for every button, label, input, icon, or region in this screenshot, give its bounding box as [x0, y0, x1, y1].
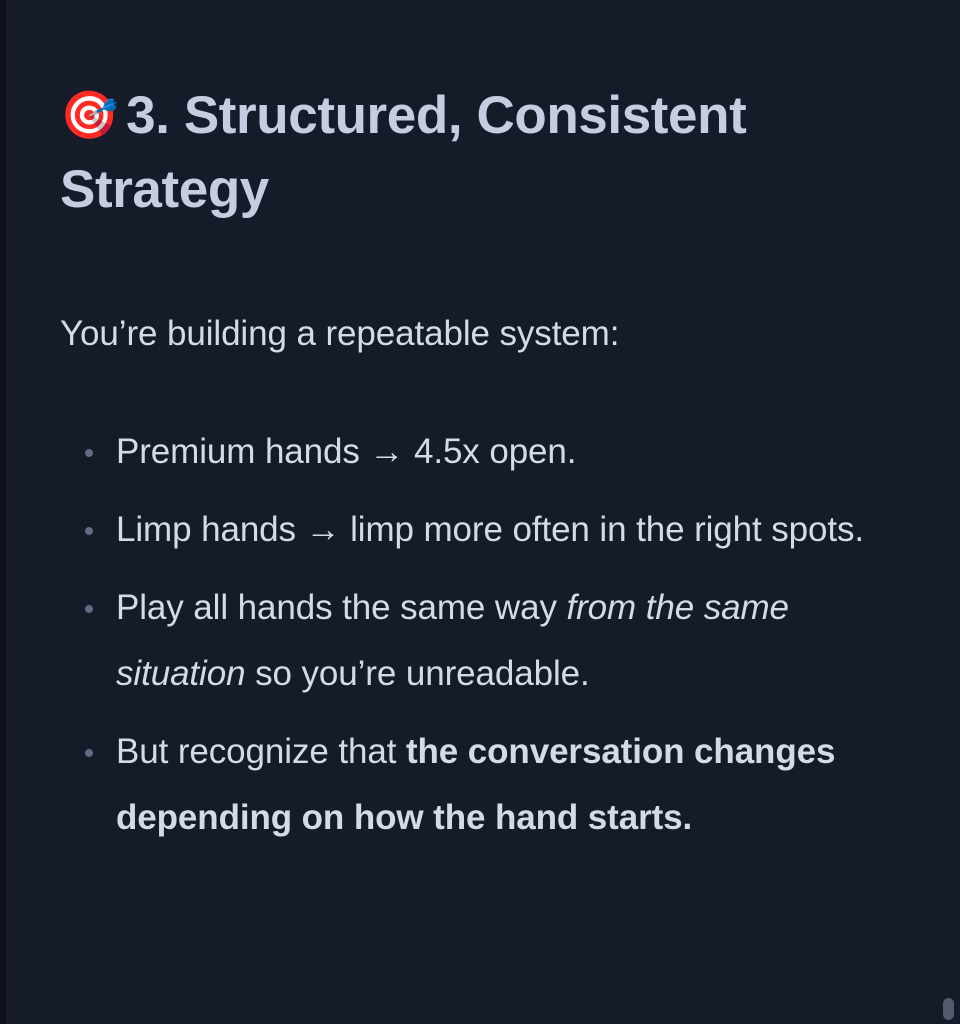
page-title-text: 3. Structured, Consistent Strategy [60, 86, 746, 219]
list-item: Limp hands → limp more often in the righ… [60, 497, 876, 563]
text-segment-normal: Limp hands → limp more often in the righ… [116, 510, 864, 549]
article-content: 🎯3. Structured, Consistent Strategy You’… [0, 0, 960, 1024]
list-item: Play all hands the same way from the sam… [60, 575, 876, 707]
direct-hit-target-emoji: 🎯 [60, 78, 118, 152]
text-segment-normal: so you’re unreadable. [245, 654, 589, 693]
list-item: But recognize that the conversation chan… [60, 719, 876, 851]
text-segment-normal: Premium hands → 4.5x open. [116, 432, 576, 471]
list-item-text: Limp hands → limp more often in the righ… [116, 510, 864, 549]
strategy-bullet-list: Premium hands → 4.5x open. Limp hands → … [60, 357, 900, 851]
bullet-dot-icon [85, 449, 93, 457]
list-item: Premium hands → 4.5x open. [60, 419, 876, 485]
bullet-dot-icon [85, 527, 93, 535]
list-item-text: Play all hands the same way from the sam… [116, 588, 789, 693]
intro-paragraph: You’re building a repeatable system: [60, 227, 900, 357]
list-item-text: But recognize that the conversation chan… [116, 732, 835, 837]
page-title: 🎯3. Structured, Consistent Strategy [60, 78, 860, 227]
bullet-dot-icon [85, 605, 93, 613]
text-segment-normal: Play all hands the same way [116, 588, 567, 627]
list-item-text: Premium hands → 4.5x open. [116, 432, 576, 471]
bullet-dot-icon [85, 749, 93, 757]
scrollbar-thumb[interactable] [943, 998, 954, 1020]
text-segment-normal: But recognize that [116, 732, 406, 771]
